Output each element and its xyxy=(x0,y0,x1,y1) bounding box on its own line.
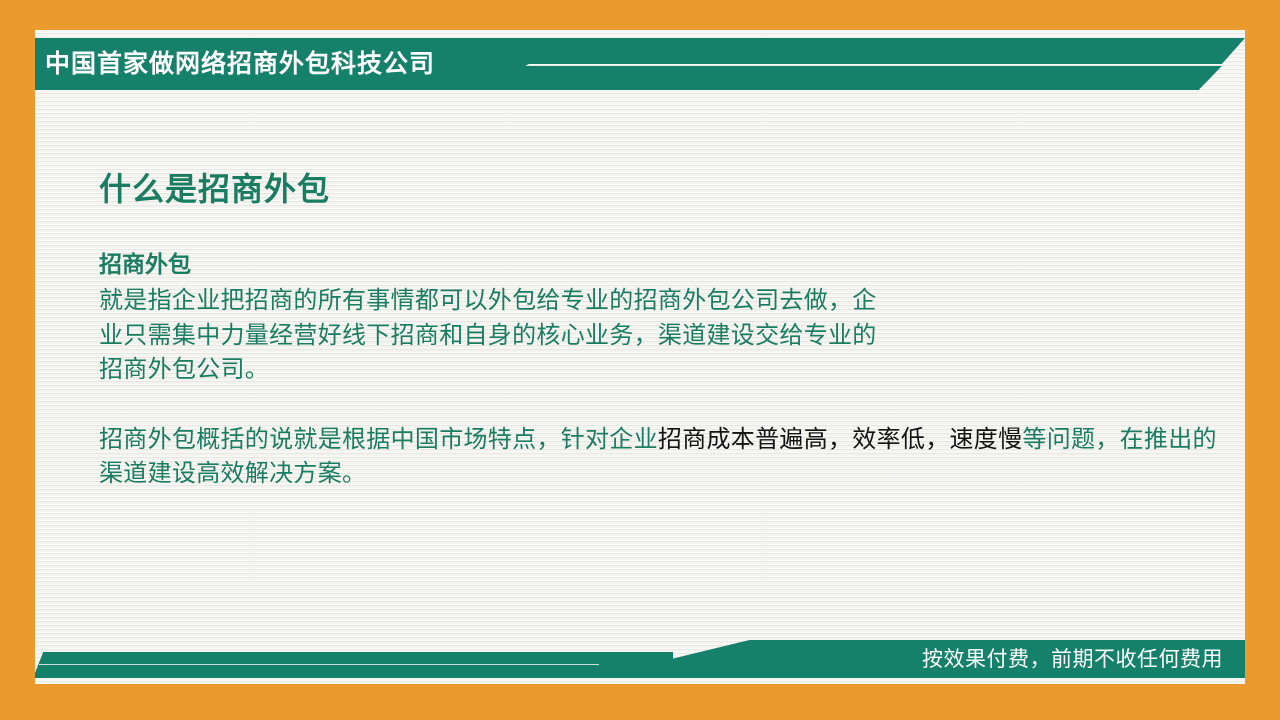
frame-edge-left xyxy=(0,0,35,720)
frame-edge-bottom xyxy=(0,684,1280,720)
paragraph-definition-line-1: 就是指企业把招商的所有事情都可以外包给专业的招商外包公司去做，企 xyxy=(99,286,877,314)
header-title: 中国首家做网络招商外包科技公司 xyxy=(45,38,435,90)
header-band-thin-lower xyxy=(473,66,1245,90)
footer-tagline: 按效果付费，前期不收任何费用 xyxy=(33,640,1245,678)
page-title: 什么是招商外包 xyxy=(99,170,1229,208)
main-content: 什么是招商外包 招商外包 就是指企业把招商的所有事情都可以外包给专业的招商外包公… xyxy=(99,170,1229,490)
paragraph-summary-emphasis: 招商成本普遍高，效率低，速度慢 xyxy=(658,425,1023,453)
header-band-thin-upper xyxy=(473,38,1245,64)
frame-edge-right xyxy=(1245,0,1280,720)
paragraph-definition-line-3: 招商外包公司。 xyxy=(99,355,269,383)
paragraph-summary-segment-1: 招商外包概括的说就是根据中国市场特点，针对企业 xyxy=(99,425,658,453)
slide-root: 中国首家做网络招商外包科技公司 什么是招商外包 招商外包 就是指企业把招商的所有… xyxy=(0,0,1280,720)
paragraph-summary: 招商外包概括的说就是根据中国市场特点，针对企业招商成本普遍高，效率低，速度慢等问… xyxy=(99,422,1229,490)
paragraph-definition: 就是指企业把招商的所有事情都可以外包给专业的招商外包公司去做，企 业只需集中力量… xyxy=(99,283,1229,385)
frame-edge-top xyxy=(0,0,1280,30)
lead-term: 招商外包 xyxy=(99,250,1229,281)
paragraph-definition-line-2: 业只需集中力量经营好线下招商和自身的核心业务，渠道建设交给专业的 xyxy=(99,321,877,349)
